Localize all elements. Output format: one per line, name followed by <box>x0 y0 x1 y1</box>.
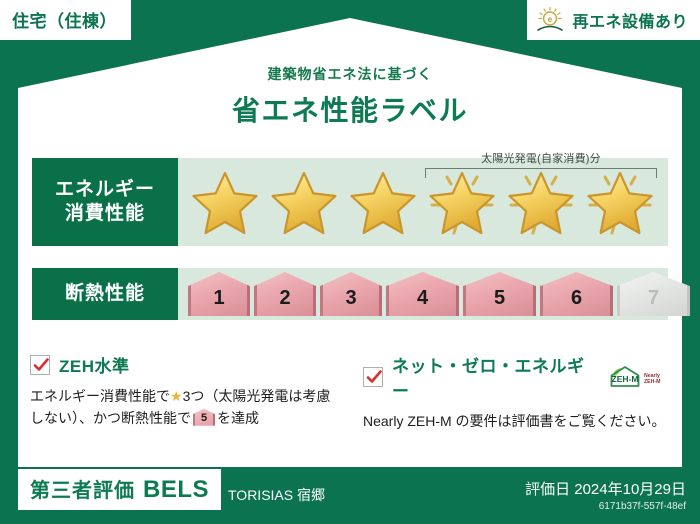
grade-scale: 1234567 <box>178 268 668 320</box>
grade-value: 5 <box>463 272 536 316</box>
criterion-zeh-title: ZEH水準 <box>59 352 130 377</box>
criterion-zeh-text-c: を達成 <box>217 410 259 426</box>
grade-value: 6 <box>540 272 613 316</box>
energy-performance-label: エネルギー 消費性能 <box>32 158 178 246</box>
energy-label-line1: エネルギー <box>55 178 155 202</box>
svg-text:e: e <box>548 15 553 24</box>
insulation-grade-1: 1 <box>188 272 250 316</box>
reference-id: 6171b37f-557f-48ef <box>525 501 686 512</box>
insulation-grade-3: 3 <box>320 272 382 316</box>
sun-horizon-icon: e <box>535 6 565 34</box>
criterion-zeh-text-a: エネルギー消費性能で <box>30 388 170 404</box>
insulation-grade-5: 5 <box>463 272 536 316</box>
grade-value: 1 <box>188 272 250 316</box>
bels-certification-badge: 第三者評価 BELS <box>18 469 221 510</box>
star-2 <box>265 165 343 239</box>
checkmark-icon <box>30 355 50 375</box>
inline-star-icon: ★ <box>170 388 183 404</box>
star-1 <box>186 165 264 239</box>
renewable-equipment-badge: e 再エネ設備あり <box>527 0 700 40</box>
insulation-grades-area: 1234567 <box>178 268 668 320</box>
building-name: TORISIAS 宿郷 <box>228 485 325 505</box>
criterion-nze-header: ネット・ゼロ・エネルギー ZEH-M Nearly ZEH-M <box>363 352 674 402</box>
insulation-performance-row: 断熱性能 1234567 <box>32 268 668 320</box>
criterion-zeh-standard: ZEH水準 エネルギー消費性能で★3つ（太陽光発電は考慮しない）、かつ断熱性能で… <box>30 352 341 433</box>
footer-meta: 評価日 2024年10月29日 6171b37f-557f-48ef <box>525 478 686 512</box>
zeh-m-logo-sub2: ZEH-M <box>644 379 660 385</box>
title-main: 省エネ性能ラベル <box>0 89 700 129</box>
grade-value: 7 <box>617 272 690 316</box>
criteria-section: ZEH水準 エネルギー消費性能で★3つ（太陽光発電は考慮しない）、かつ断熱性能で… <box>30 352 674 433</box>
title-subtitle: 建築物省エネ法に基づく <box>0 64 700 84</box>
evaluation-date: 評価日 2024年10月29日 <box>525 478 686 499</box>
grade-value: 2 <box>254 272 316 316</box>
solar-annotation-bracket <box>425 168 657 178</box>
bels-badge-en-label: BELS <box>143 476 209 504</box>
zeh-m-logo-text: ZEH-M <box>612 374 639 384</box>
grade-value: 3 <box>320 272 382 316</box>
insulation-grade-7: 7 <box>617 272 690 316</box>
insulation-grade-4: 4 <box>386 272 459 316</box>
insulation-label-text: 断熱性能 <box>65 282 145 306</box>
solar-annotation-label: 太陽光発電(自家消費)分 <box>425 150 657 166</box>
criterion-nze-title: ネット・ゼロ・エネルギー <box>392 352 593 402</box>
energy-label-line2: 消費性能 <box>65 202 145 226</box>
category-badge-label: 住宅（住棟） <box>12 12 117 31</box>
insulation-grade-2: 2 <box>254 272 316 316</box>
criterion-nze-description: Nearly ZEH-M の要件は評価書をご覧ください。 <box>363 411 674 433</box>
inline-grade-badge: 5 <box>193 409 215 426</box>
criterion-net-zero-energy: ネット・ゼロ・エネルギー ZEH-M Nearly ZEH-M Nearly Z… <box>363 352 674 433</box>
star-3 <box>344 165 422 239</box>
renewable-badge-label: 再エネ設備あり <box>572 8 688 32</box>
checkmark-icon <box>363 367 383 387</box>
label-title-block: 建築物省エネ法に基づく 省エネ性能ラベル <box>0 64 700 129</box>
category-badge: 住宅（住棟） <box>0 0 131 40</box>
grade-value: 4 <box>386 272 459 316</box>
inline-grade-value: 5 <box>193 409 215 426</box>
zeh-m-house-logo: ZEH-M Nearly ZEH-M <box>608 364 674 390</box>
criterion-zeh-header: ZEH水準 <box>30 352 341 377</box>
criterion-zeh-description: エネルギー消費性能で★3つ（太陽光発電は考慮しない）、かつ断熱性能で5を達成 <box>30 386 341 429</box>
energy-performance-label: 住宅（住棟） e 再エネ設備あり 建築物省エネ法に基づ <box>0 0 700 524</box>
insulation-performance-label: 断熱性能 <box>32 268 178 320</box>
insulation-grade-6: 6 <box>540 272 613 316</box>
solar-generation-annotation: 太陽光発電(自家消費)分 <box>425 150 657 178</box>
bels-badge-jp-label: 第三者評価 <box>30 474 135 503</box>
